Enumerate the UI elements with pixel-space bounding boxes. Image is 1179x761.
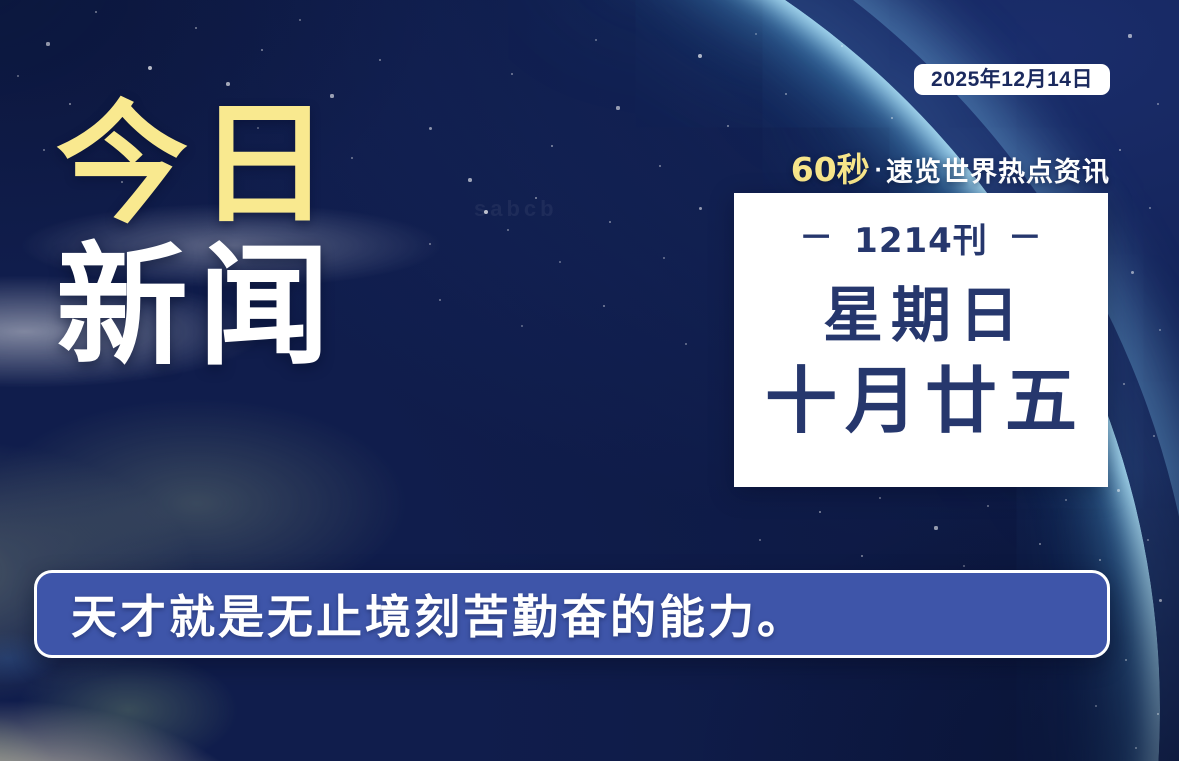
quote-text: 天才就是无止境刻苦勤奋的能力。 xyxy=(37,581,806,647)
content-layer: 今日 新闻 2025年12月14日 60秒·速览世界热点资讯 －1214刊－ 星… xyxy=(0,0,1179,761)
tagline-separator-dot: · xyxy=(875,156,883,184)
date-badge: 2025年12月14日 xyxy=(914,64,1110,95)
quote-banner: 天才就是无止境刻苦勤奋的能力。 xyxy=(34,570,1110,658)
tagline-duration: 60秒 xyxy=(791,150,870,189)
issue-dash-right-icon: － xyxy=(1008,210,1043,259)
issue-number: 1214刊 xyxy=(854,221,988,261)
issue-dash-left-icon: － xyxy=(799,210,834,259)
date-info-card: －1214刊－ 星期日 十月廿五 xyxy=(734,193,1108,487)
page-title: 今日 新闻 xyxy=(56,96,476,376)
news-poster: sabcb 今日 新闻 2025年12月14日 60秒·速览世界热点资讯 －12… xyxy=(0,0,1179,761)
tagline: 60秒·速览世界热点资讯 xyxy=(736,143,1110,191)
page-title-line-2: 新闻 xyxy=(56,238,476,376)
weekday-label: 星期日 xyxy=(734,282,1108,350)
tagline-description: 速览世界热点资讯 xyxy=(886,157,1110,187)
page-title-line-1: 今日 xyxy=(56,96,476,234)
issue-number-row: －1214刊－ xyxy=(734,213,1108,262)
lunar-date-label: 十月廿五 xyxy=(734,360,1108,442)
